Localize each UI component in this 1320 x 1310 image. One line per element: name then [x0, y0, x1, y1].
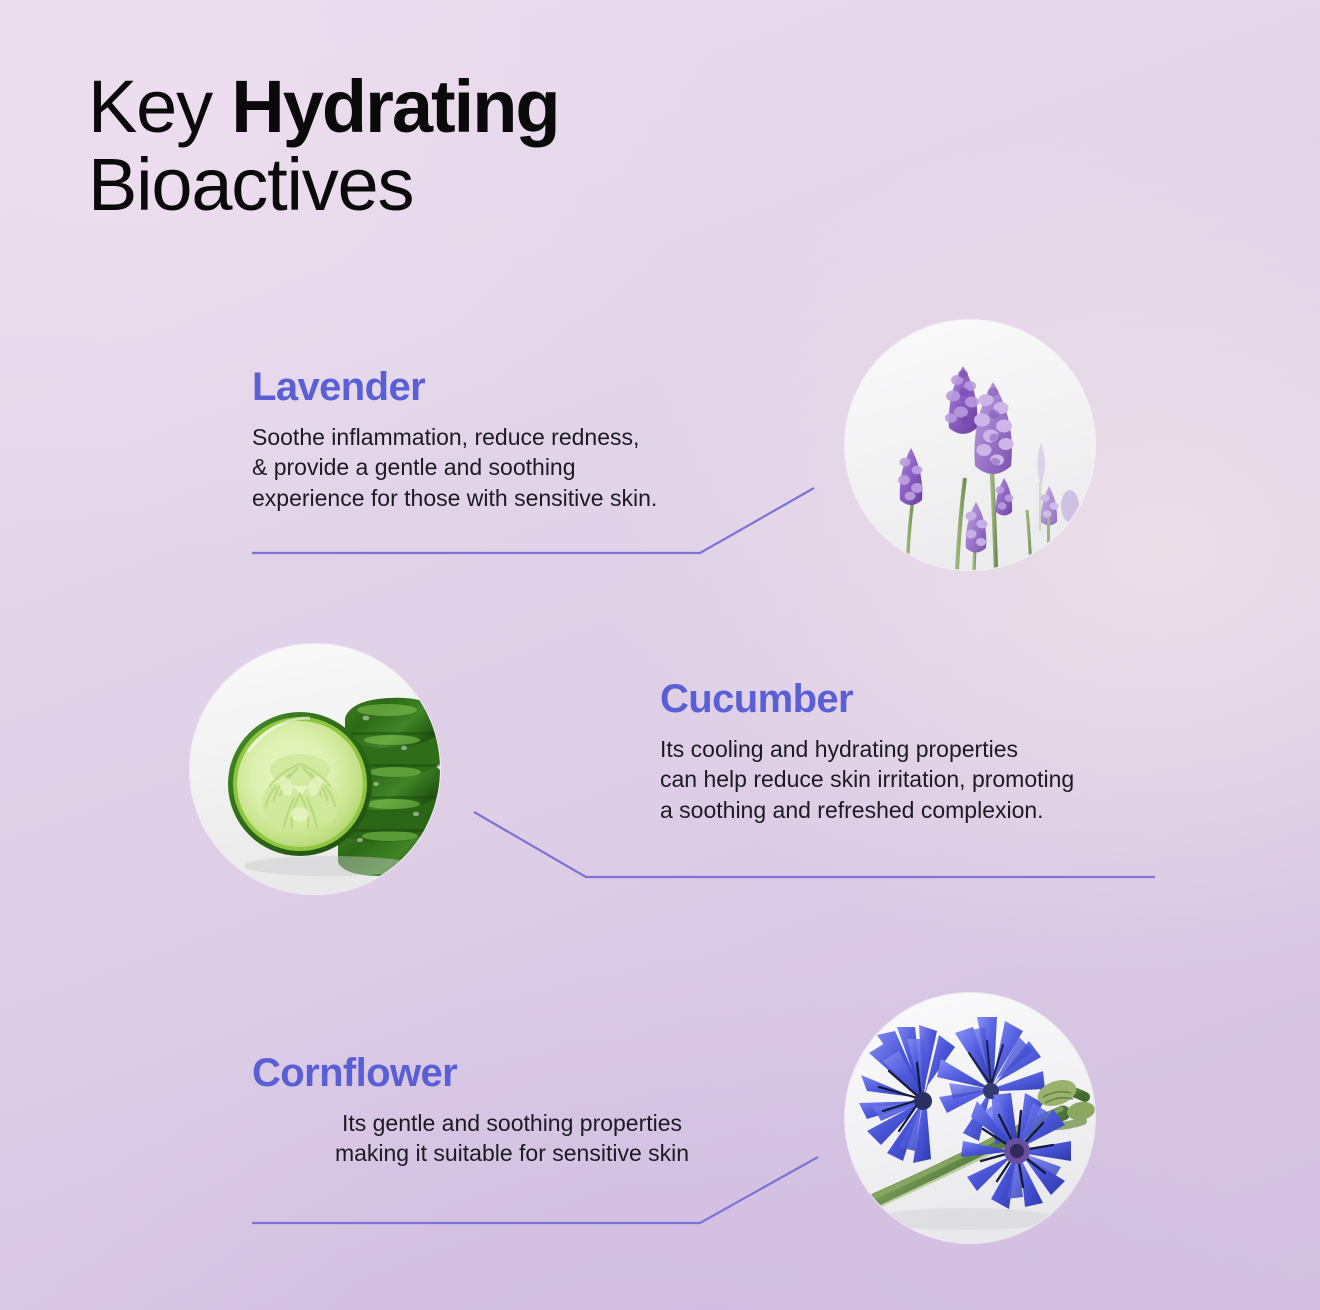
body-line: Its cooling and hydrating properties: [660, 734, 1180, 764]
body-line: making it suitable for sensitive skin: [252, 1138, 772, 1168]
section-cucumber: Cucumber Its cooling and hydrating prope…: [660, 678, 1180, 825]
section-body-cornflower: Its gentle and soothing properties makin…: [252, 1108, 772, 1169]
section-lavender: Lavender Soothe inflammation, reduce red…: [252, 366, 772, 513]
section-heading-cucumber: Cucumber: [660, 678, 1180, 720]
body-line: a soothing and refreshed complexion.: [660, 795, 1180, 825]
body-line: Soothe inflammation, reduce redness,: [252, 422, 772, 452]
infographic-poster: Key Hydrating Bioactives Lavender Soothe…: [0, 0, 1320, 1310]
body-line: Its gentle and soothing properties: [252, 1108, 772, 1138]
section-body-lavender: Soothe inflammation, reduce redness, & p…: [252, 422, 772, 513]
section-heading-cornflower: Cornflower: [252, 1052, 772, 1094]
lavender-image-circle: [845, 320, 1095, 570]
cucumber-image-circle: [190, 644, 440, 894]
cucumber-slices-photo: [190, 644, 440, 894]
body-line: experience for those with sensitive skin…: [252, 483, 772, 513]
section-heading-lavender: Lavender: [252, 366, 772, 408]
cornflower-image-circle: [845, 993, 1095, 1243]
body-line: can help reduce skin irritation, promoti…: [660, 764, 1180, 794]
section-cornflower: Cornflower Its gentle and soothing prope…: [252, 1052, 772, 1169]
section-body-cucumber: Its cooling and hydrating properties can…: [660, 734, 1180, 825]
lavender-flowers-photo: [845, 320, 1095, 570]
cornflower-flowers-photo: [845, 993, 1095, 1243]
body-line: & provide a gentle and soothing: [252, 452, 772, 482]
